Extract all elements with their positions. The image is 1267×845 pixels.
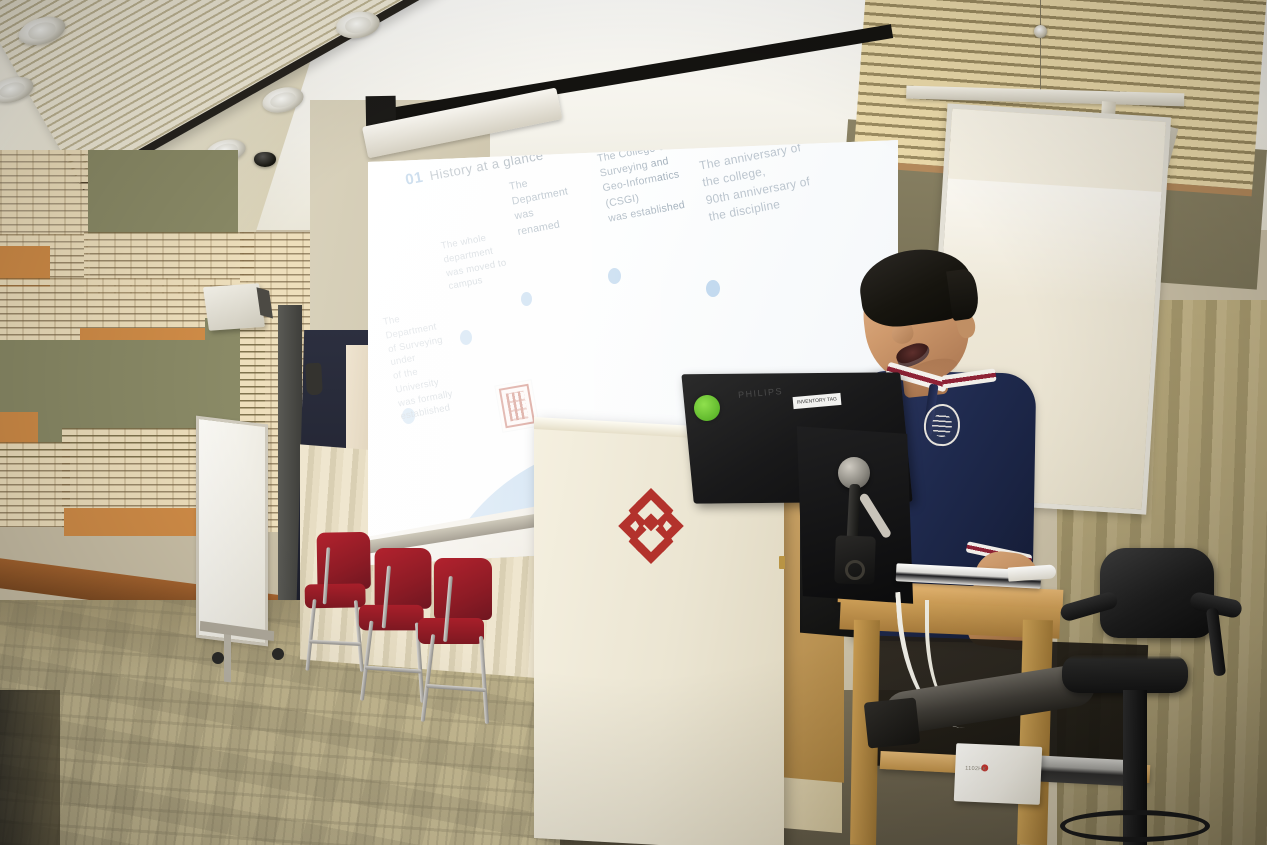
- mobile-whiteboard-left: [196, 416, 268, 647]
- mic-ring: [845, 560, 865, 580]
- whiteboard-stand-post: [224, 630, 231, 683]
- paper-sheet: [1008, 564, 1057, 581]
- lecture-hall-photo: 01 History at a glance The Department of…: [0, 0, 1267, 845]
- alcove-speaker-icon: [305, 363, 323, 396]
- podium-latch-icon: [779, 556, 785, 569]
- caster-wheel-icon: [212, 652, 224, 664]
- equipment-bag: [864, 697, 921, 748]
- caster-wheel-icon: [272, 648, 284, 660]
- wall-fixing-dot-icon: [1034, 25, 1047, 38]
- task-chair-footring: [1060, 810, 1210, 842]
- timeline-node-icon: [706, 280, 720, 297]
- box-model-text: 1102HK: [965, 766, 987, 773]
- podium-leg: [1017, 620, 1053, 845]
- polyu-knot-logo-icon: [613, 485, 689, 567]
- small-white-box: 1102HK: [954, 743, 1042, 805]
- wall-mounted-speaker-icon: [203, 283, 265, 330]
- floor-dark-edge: [0, 690, 60, 845]
- presenter-hair: [855, 243, 976, 332]
- task-chair-seat: [1062, 655, 1188, 693]
